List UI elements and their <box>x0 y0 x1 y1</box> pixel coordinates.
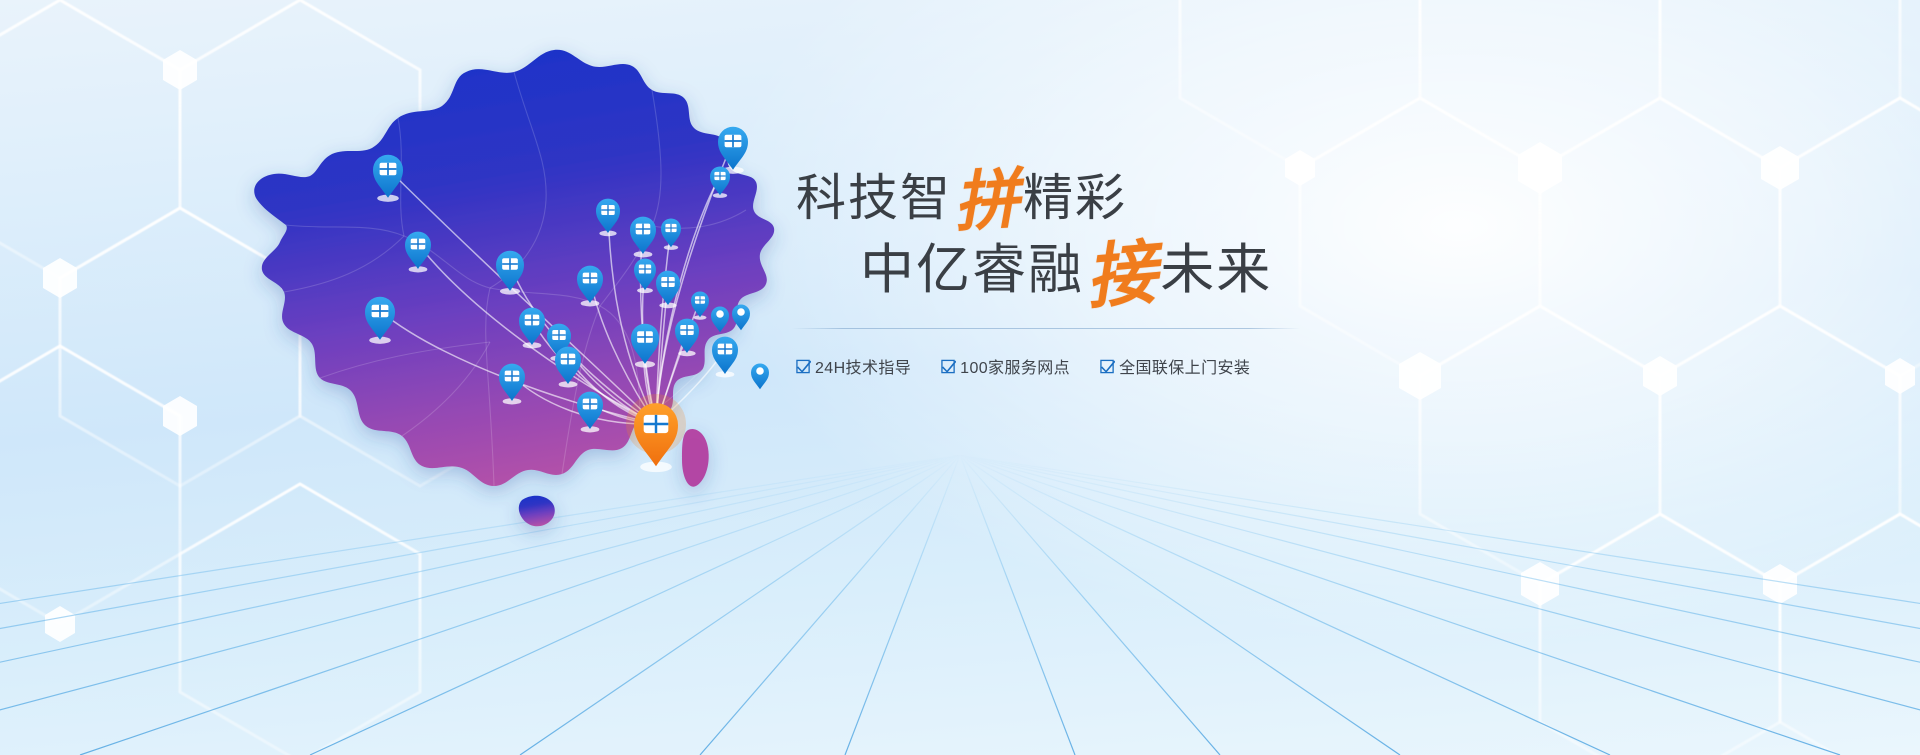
hub-marker-group <box>626 394 686 472</box>
window-grid-icon <box>714 172 725 180</box>
headline-line2-accent: 接 <box>1082 245 1163 306</box>
branch-marker[interactable] <box>712 337 738 378</box>
window-grid-icon <box>665 224 676 232</box>
headline-line-1: 科技智 拼 精彩 <box>796 172 1127 223</box>
headline-line2-post: 未来 <box>1160 243 1272 297</box>
window-grid-icon <box>380 163 397 175</box>
window-grid-icon <box>661 277 674 287</box>
headline-line1-pre: 科技智 <box>796 173 952 223</box>
divider <box>792 328 1300 329</box>
window-grid-icon <box>637 331 653 343</box>
feature-item: 100家服务网点 <box>941 354 1070 378</box>
headline-line-2: 中亿睿融 接 未来 <box>860 242 1272 297</box>
window-grid-icon <box>561 354 576 365</box>
window-grid-icon <box>552 330 565 340</box>
window-grid-icon <box>639 264 651 273</box>
window-grid-icon <box>583 399 598 410</box>
window-grid-icon <box>718 344 733 355</box>
window-grid-icon <box>636 224 651 235</box>
headline-line1-post: 精彩 <box>1023 173 1127 223</box>
window-grid-icon <box>601 205 614 215</box>
headline-line1-accent: 拼 <box>950 174 1024 230</box>
headline-line2-pre: 中亿睿融 <box>860 243 1084 297</box>
china-map <box>190 30 830 650</box>
window-grid-icon <box>680 325 693 335</box>
feature-list: 24H技术指导100家服务网点全国联保上门安装 <box>796 354 1316 378</box>
window-grid-icon <box>502 258 518 270</box>
window-grid-icon <box>411 239 426 250</box>
banner-stage: 科技智 拼 精彩 中亿睿融 接 未来 24H技术指导100家服务网点全国联保上门… <box>0 0 1920 755</box>
window-grid-icon <box>725 135 742 147</box>
banner-text-block: 科技智 拼 精彩 中亿睿融 接 未来 24H技术指导100家服务网点全国联保上门… <box>780 168 1310 318</box>
headline: 科技智 拼 精彩 中亿睿融 接 未来 <box>780 168 1310 318</box>
plain-pin-marker[interactable] <box>751 363 769 389</box>
window-grid-icon <box>695 296 705 303</box>
hub-marker[interactable] <box>634 403 678 472</box>
feature-label: 全国联保上门安装 <box>1119 354 1250 378</box>
window-grid-icon <box>372 305 389 317</box>
check-box-icon <box>1100 359 1115 374</box>
feature-item: 全国联保上门安装 <box>1100 354 1250 378</box>
window-grid-icon <box>583 273 598 284</box>
check-box-icon <box>941 359 956 374</box>
feature-label: 24H技术指导 <box>815 354 911 378</box>
check-box-icon <box>796 359 811 374</box>
window-grid-icon <box>505 371 520 382</box>
window-grid-icon <box>525 315 540 326</box>
feature-item: 24H技术指导 <box>796 354 911 378</box>
feature-label: 100家服务网点 <box>960 354 1070 378</box>
window-grid-icon <box>644 415 669 433</box>
